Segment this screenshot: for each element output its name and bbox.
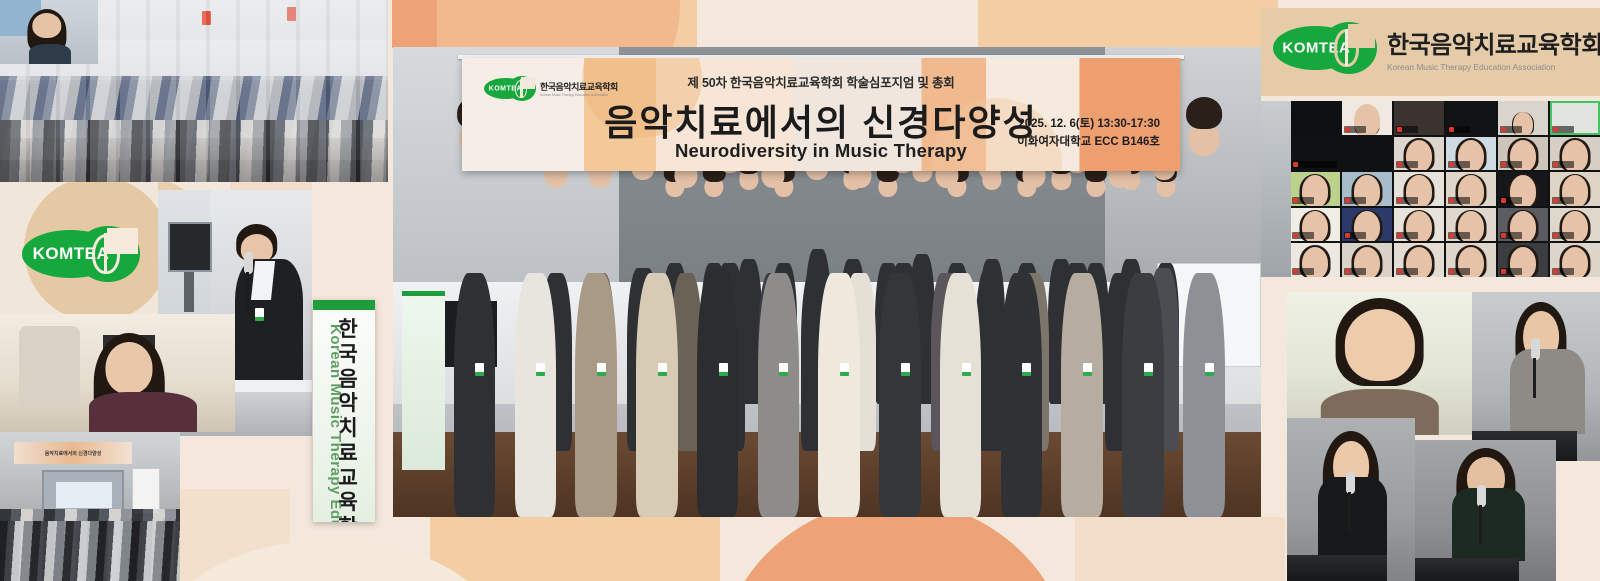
photo-podium-speaker-3 <box>1415 440 1556 581</box>
zoom-tile[interactable] <box>1290 172 1340 206</box>
monitor-screen <box>168 222 212 272</box>
zoom-tile[interactable] <box>1446 172 1496 206</box>
vbanner-top-bar <box>313 300 375 310</box>
zoom-tile[interactable] <box>1550 137 1600 171</box>
zoom-tile[interactable] <box>1394 243 1444 277</box>
photo-podium-speaker-1 <box>1472 292 1600 461</box>
zoom-tile[interactable] <box>1342 243 1392 277</box>
vb-char: 악 <box>338 392 357 417</box>
komtea-mark-icon: KOMTEA <box>1273 22 1377 74</box>
zoom-tile[interactable] <box>1394 172 1444 206</box>
beige-block-bottom-right <box>1075 517 1285 581</box>
auditorium-banner-text: 음악치료에서의 신경다양성 <box>45 450 102 457</box>
banner-subtitle: 제 50차 한국음악치료교육학회 학술심포지엄 및 총회 <box>462 72 1180 91</box>
zoom-tile[interactable] <box>1446 101 1496 135</box>
microphone-icon <box>1477 485 1486 507</box>
zoom-tile[interactable] <box>1550 208 1600 242</box>
photo-remote-speaker-right <box>1287 292 1472 435</box>
collage-canvas: KOMTEA <box>0 0 1600 581</box>
zoom-tile[interactable] <box>1446 243 1496 277</box>
zoom-tile[interactable] <box>1550 243 1600 277</box>
vertical-roll-banner: Korean Music Therapy Education Associati… <box>313 300 375 522</box>
photo-video-inset-top-left <box>0 0 98 64</box>
zoom-gallery-right[interactable] <box>1290 101 1600 277</box>
zoom-tile[interactable] <box>1342 101 1392 135</box>
vb-char: 음 <box>338 368 357 393</box>
zoom-tile[interactable] <box>1394 101 1444 135</box>
banner-date: 2025. 12. 6(토) 13:30-17:30 <box>1017 116 1160 134</box>
vbanner-korean: 한 국 음 악 치 료 교 육 학 회 <box>331 318 365 518</box>
microphone-icon <box>1531 338 1540 360</box>
photo-remote-participant-left <box>0 314 235 432</box>
zoom-tile[interactable] <box>1498 137 1548 171</box>
zoom-tile[interactable] <box>1342 172 1392 206</box>
logo-name-ko: 한국음악치료교육학회 <box>1387 25 1600 60</box>
banner-venue: 이화여자대학교 ECC B146호 <box>1017 134 1160 152</box>
zoom-gallery-window-frame <box>1261 101 1291 277</box>
podium <box>1287 555 1387 581</box>
zoom-tile[interactable] <box>1342 208 1392 242</box>
vb-char: 교 <box>338 467 357 492</box>
zoom-tile[interactable] <box>1498 208 1548 242</box>
vb-char: 치 <box>338 417 357 442</box>
vb-char: 료 <box>338 442 357 467</box>
logo-plate-right: KOMTEA 한국음악치료교육학회 Korean Music Therapy E… <box>1261 8 1600 96</box>
zoom-tile[interactable] <box>1446 137 1496 171</box>
photo-podium-speaker-2 <box>1287 418 1415 581</box>
microphone-icon <box>244 252 253 274</box>
zoom-tile[interactable] <box>1394 208 1444 242</box>
tan-rect-top-right <box>978 0 1278 48</box>
zoom-tile[interactable] <box>1550 172 1600 206</box>
podium <box>1415 558 1519 581</box>
photo-auditorium-bottom-left: 음악치료에서의 신경다양성 <box>0 432 180 581</box>
vb-char: 한 <box>338 318 357 343</box>
logo-name-en: Korean Music Therapy Education Associati… <box>1387 62 1600 72</box>
komtea-mark-icon: KOMTEA <box>22 226 140 282</box>
orange-strip-left-top <box>392 0 437 48</box>
zoom-tile[interactable] <box>1498 172 1548 206</box>
zoom-tile[interactable] <box>1446 208 1496 242</box>
zoom-tile[interactable] <box>1498 101 1548 135</box>
zoom-tile[interactable] <box>1290 208 1340 242</box>
banner-meta: 2025. 12. 6(토) 13:30-17:30 이화여자대학교 ECC B… <box>1017 116 1160 152</box>
zoom-tile[interactable] <box>1498 243 1548 277</box>
vb-char: 학 <box>338 516 357 522</box>
zoom-tile[interactable] <box>1290 101 1340 135</box>
zoom-tile[interactable] <box>1290 137 1392 171</box>
logo-komtea-left: KOMTEA <box>22 226 140 282</box>
vb-char: 육 <box>338 491 357 516</box>
photo-logo-plate-left: KOMTEA <box>0 182 158 314</box>
zoom-tile[interactable] <box>1290 243 1340 277</box>
symposium-banner: KOMTEA 한국음악치료교육학회 Korean Music Therapy E… <box>462 58 1180 171</box>
zoom-tile[interactable] <box>1394 137 1444 171</box>
zoom-tile-active-speaker[interactable] <box>1550 101 1600 135</box>
logo-komtea-right: KOMTEA 한국음악치료교육학회 Korean Music Therapy E… <box>1273 22 1600 74</box>
vb-char: 국 <box>338 343 357 368</box>
tan-rect-bottom <box>430 517 720 581</box>
auditorium-banner: 음악치료에서의 신경다양성 <box>14 442 132 464</box>
whiteboard <box>132 468 160 514</box>
microphone-icon <box>1346 472 1355 494</box>
